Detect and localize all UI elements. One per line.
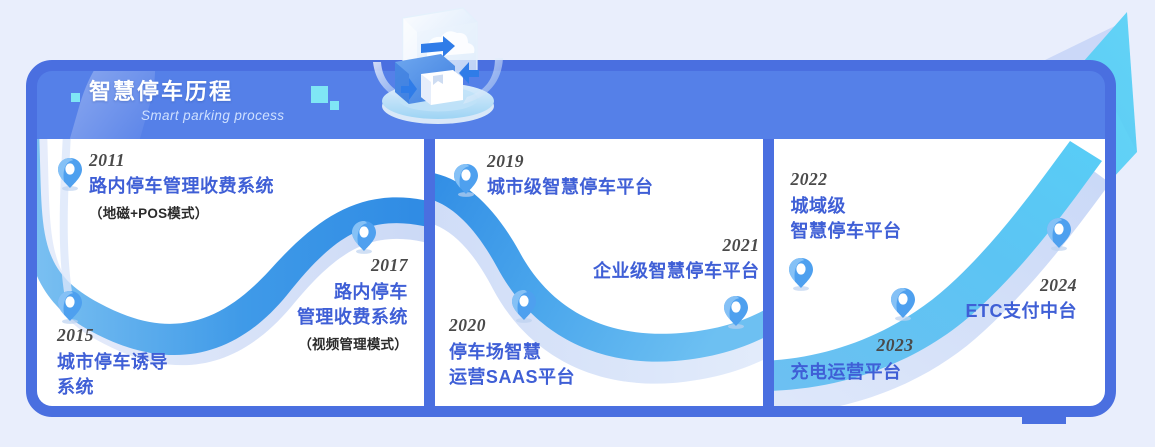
decor-square-small-icon — [330, 101, 339, 110]
map-pin-icon — [1046, 217, 1072, 251]
milestone-sub: （地磁+POS模式） — [89, 204, 274, 224]
milestone-year: 2022 — [790, 169, 901, 190]
milestone-name: 企业级智慧停车平台 — [593, 259, 760, 284]
decor-square-large-icon — [311, 86, 328, 103]
milestone-name-line2: 智慧停车平台 — [790, 219, 901, 244]
milestone-year: 2011 — [89, 150, 274, 171]
milestone-name-line1: 城域级 — [790, 194, 901, 219]
map-pin-icon — [57, 290, 83, 324]
milestone-name-line2: 运营SAAS平台 — [449, 365, 575, 390]
milestone-name-line1: 城市停车诱导 — [57, 350, 168, 375]
milestone-2019: 2019 城市级智慧停车平台 — [487, 151, 654, 200]
milestone-name: 城市级智慧停车平台 — [487, 175, 654, 200]
3d-cloud-cube-icon — [355, 0, 520, 135]
milestone-name-line2: 系统 — [57, 375, 168, 400]
milestone-sub: （视频管理模式） — [297, 335, 408, 355]
milestone-year: 2024 — [966, 275, 1078, 296]
map-pin-icon — [723, 295, 749, 329]
title-block: 智慧停车历程 Smart parking process — [89, 77, 284, 123]
milestone-name: 充电运营平台 — [790, 360, 913, 385]
panel-3: 2022 城域级 智慧停车平台 20 — [774, 139, 1105, 406]
page-subtitle: Smart parking process — [141, 108, 284, 123]
header-title-group: 智慧停车历程 Smart parking process — [71, 77, 284, 123]
milestone-2011: 2011 路内停车管理收费系统 （地磁+POS模式） — [89, 150, 274, 224]
infographic-root: 智慧停车历程 Smart parking process — [0, 0, 1155, 447]
milestone-year: 2015 — [57, 325, 168, 346]
milestone-2021: 2021 企业级智慧停车平台 — [593, 235, 760, 284]
panel-1: 2011 路内停车管理收费系统 （地磁+POS模式） 2015 城市停车诱导 系… — [37, 139, 424, 406]
card-header: 智慧停车历程 Smart parking process — [37, 71, 1105, 139]
milestone-name: ETC支付中台 — [966, 299, 1078, 324]
map-pin-icon — [890, 287, 916, 321]
timeline-card: 智慧停车历程 Smart parking process — [26, 60, 1116, 417]
milestone-2015: 2015 城市停车诱导 系统 — [57, 325, 168, 400]
milestone-2020: 2020 停车场智慧 运营SAAS平台 — [449, 315, 575, 390]
map-pin-icon — [453, 163, 479, 197]
panel-2: 2019 城市级智慧停车平台 2020 停车场智慧 运营SAAS平台 — [435, 139, 764, 406]
milestone-year: 2017 — [297, 255, 408, 276]
milestone-name-line1: 路内停车 — [297, 280, 408, 305]
map-pin-icon — [57, 157, 83, 191]
milestone-2023: 2023 充电运营平台 — [790, 335, 913, 385]
milestone-year: 2023 — [876, 335, 913, 356]
page-title: 智慧停车历程 — [89, 77, 284, 107]
milestone-year: 2020 — [449, 315, 575, 336]
milestone-name-line2: 管理收费系统 — [297, 305, 408, 330]
map-pin-icon — [788, 257, 814, 291]
milestone-year: 2021 — [593, 235, 760, 256]
milestone-2022: 2022 城域级 智慧停车平台 — [790, 169, 901, 244]
milestone-year: 2019 — [487, 151, 654, 172]
panels-row: 2011 路内停车管理收费系统 （地磁+POS模式） 2015 城市停车诱导 系… — [37, 139, 1105, 406]
map-pin-icon — [351, 220, 377, 254]
milestone-2017: 2017 路内停车 管理收费系统 （视频管理模式） — [297, 255, 408, 355]
milestone-2024: 2024 ETC支付中台 — [966, 275, 1078, 324]
milestone-name-line1: 停车场智慧 — [449, 340, 575, 365]
milestone-name: 路内停车管理收费系统 — [89, 174, 274, 199]
square-bullet-icon — [71, 93, 80, 102]
